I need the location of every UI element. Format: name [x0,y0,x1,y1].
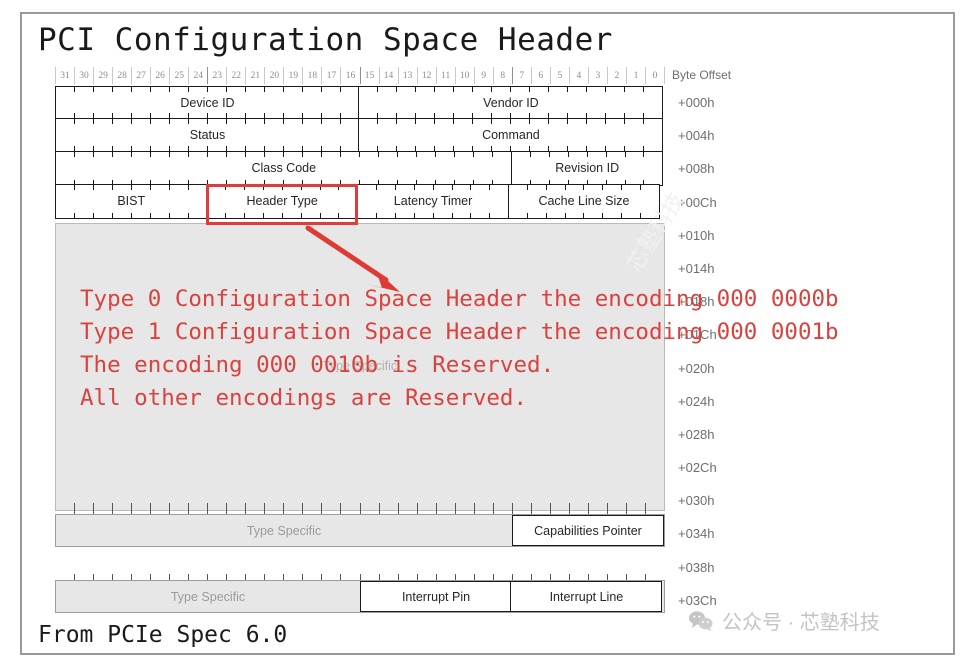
annotation-line-2: Type 1 Configuration Space Header the en… [80,316,839,349]
tick-marks [509,213,660,218]
byte-offset-02Ch: +02Ch [672,451,792,484]
tick-marks [56,152,512,157]
tick-marks [509,185,660,190]
tick-marks [358,185,509,190]
byte-offset-030h: +030h [672,484,792,517]
tick-marks [56,503,664,510]
bit-label-14: 14 [380,67,399,84]
bit-label-6: 6 [532,67,551,84]
bit-label-16: 16 [341,67,360,84]
field-interrupt-line[interactable]: Interrupt Line [510,581,662,612]
bit-label-30: 30 [75,67,94,84]
bit-label-1: 1 [627,67,646,84]
byte-offset-034h: +034h [672,517,792,550]
field-label: Vendor ID [483,96,539,110]
field-label: Revision ID [555,161,619,175]
field-label: Command [482,128,540,142]
bit-label-17: 17 [322,67,341,84]
field-label: Device ID [180,96,234,110]
bit-label-10: 10 [456,67,475,84]
field-label: Latency Timer [394,194,473,208]
bit-label-28: 28 [113,67,132,84]
byte-offset-008h: +008h [672,152,792,185]
tick-marks [56,87,359,92]
bit-label-24: 24 [189,67,208,84]
bit-label-27: 27 [132,67,151,84]
field-status[interactable]: Status [55,118,360,153]
bit-label-9: 9 [475,67,494,84]
wechat-icon [688,610,714,632]
tick-marks [359,87,662,92]
bit-label-25: 25 [170,67,189,84]
brand-watermark-label: 公众号 · 芯塾科技 [722,606,880,635]
bit-label-0: 0 [646,67,665,84]
source-note: From PCIe Spec 6.0 [38,622,287,648]
bit-label-22: 22 [227,67,246,84]
bit-label-11: 11 [437,67,456,84]
bit-label-3: 3 [589,67,608,84]
field-bist[interactable]: BIST [55,184,208,219]
bit-label-18: 18 [303,67,322,84]
field-cache-line-size[interactable]: Cache Line Size [508,184,661,219]
field-latency-timer[interactable]: Latency Timer [357,184,510,219]
field-interrupt-pin[interactable]: Interrupt Pin [360,581,512,612]
page-title: PCI Configuration Space Header [38,22,613,58]
type-specific-label: Type Specific [56,515,512,546]
annotation-text: Type 0 Configuration Space Header the en… [80,283,839,415]
field-capabilities-pointer[interactable]: Capabilities Pointer [512,515,664,546]
field-class-code[interactable]: Class Code [55,151,513,186]
tick-marks [358,213,509,218]
field-label: Cache Line Size [538,194,629,208]
byte-offset-004h: +004h [672,119,792,152]
tick-marks [207,213,358,218]
field-revision-id[interactable]: Revision ID [511,151,664,186]
bit-label-20: 20 [265,67,284,84]
byte-offset-00Ch: +00Ch [672,186,792,219]
tick-marks [512,152,663,157]
bit-ruler: 3130292827262524232221201918171615141312… [55,67,665,84]
bit-label-13: 13 [399,67,418,84]
tick-marks [56,213,207,218]
row-interrupt: Type Specific Interrupt Pin Interrupt Li… [55,580,665,613]
field-device-id[interactable]: Device ID [55,86,360,119]
register-row: Device IDVendor ID [55,86,665,119]
field-header-type[interactable]: Header Type [206,184,359,219]
field-label: Status [190,128,225,142]
bit-label-19: 19 [284,67,303,84]
row-capabilities-pointer: Type Specific Capabilities Pointer [55,514,665,547]
bit-label-5: 5 [551,67,570,84]
bit-label-4: 4 [570,67,589,84]
field-label: Header Type [246,194,317,208]
byte-offset-028h: +028h [672,418,792,451]
brand-watermark: 公众号 · 芯塾科技 [688,606,880,635]
register-row: BISTHeader TypeLatency TimerCache Line S… [55,186,665,219]
annotation-line-4: All other encodings are Reserved. [80,382,839,415]
bit-label-29: 29 [94,67,113,84]
bit-label-26: 26 [151,67,170,84]
tick-marks [359,119,662,124]
register-row: StatusCommand [55,119,665,152]
bit-label-15: 15 [361,67,380,84]
field-vendor-id[interactable]: Vendor ID [358,86,663,119]
byte-offset-038h: +038h [672,551,792,584]
tick-marks [207,185,358,190]
byte-offset-000h: +000h [672,86,792,119]
bit-label-31: 31 [55,67,75,84]
field-label: Class Code [251,161,316,175]
register-row: Class CodeRevision ID [55,152,665,185]
bit-label-12: 12 [418,67,437,84]
field-command[interactable]: Command [358,118,663,153]
byte-offset-header: Byte Offset [672,68,731,82]
type-specific-label: Type Specific [56,581,360,612]
bit-label-21: 21 [246,67,265,84]
tick-marks [56,119,359,124]
field-label: BIST [117,194,145,208]
bit-label-23: 23 [208,67,227,84]
annotation-line-3: The encoding 000 0010b is Reserved. [80,349,839,382]
tick-marks [56,185,207,190]
register-table: Device IDVendor IDStatusCommandClass Cod… [55,86,665,219]
bit-label-8: 8 [494,67,513,84]
bit-label-2: 2 [608,67,627,84]
byte-offset-010h: +010h [672,219,792,252]
diagram-canvas: PCI Configuration Space Header 313029282… [0,0,973,667]
bit-label-7: 7 [513,67,532,84]
byte-offset-014h: +014h [672,252,792,285]
annotation-line-1: Type 0 Configuration Space Header the en… [80,283,839,316]
